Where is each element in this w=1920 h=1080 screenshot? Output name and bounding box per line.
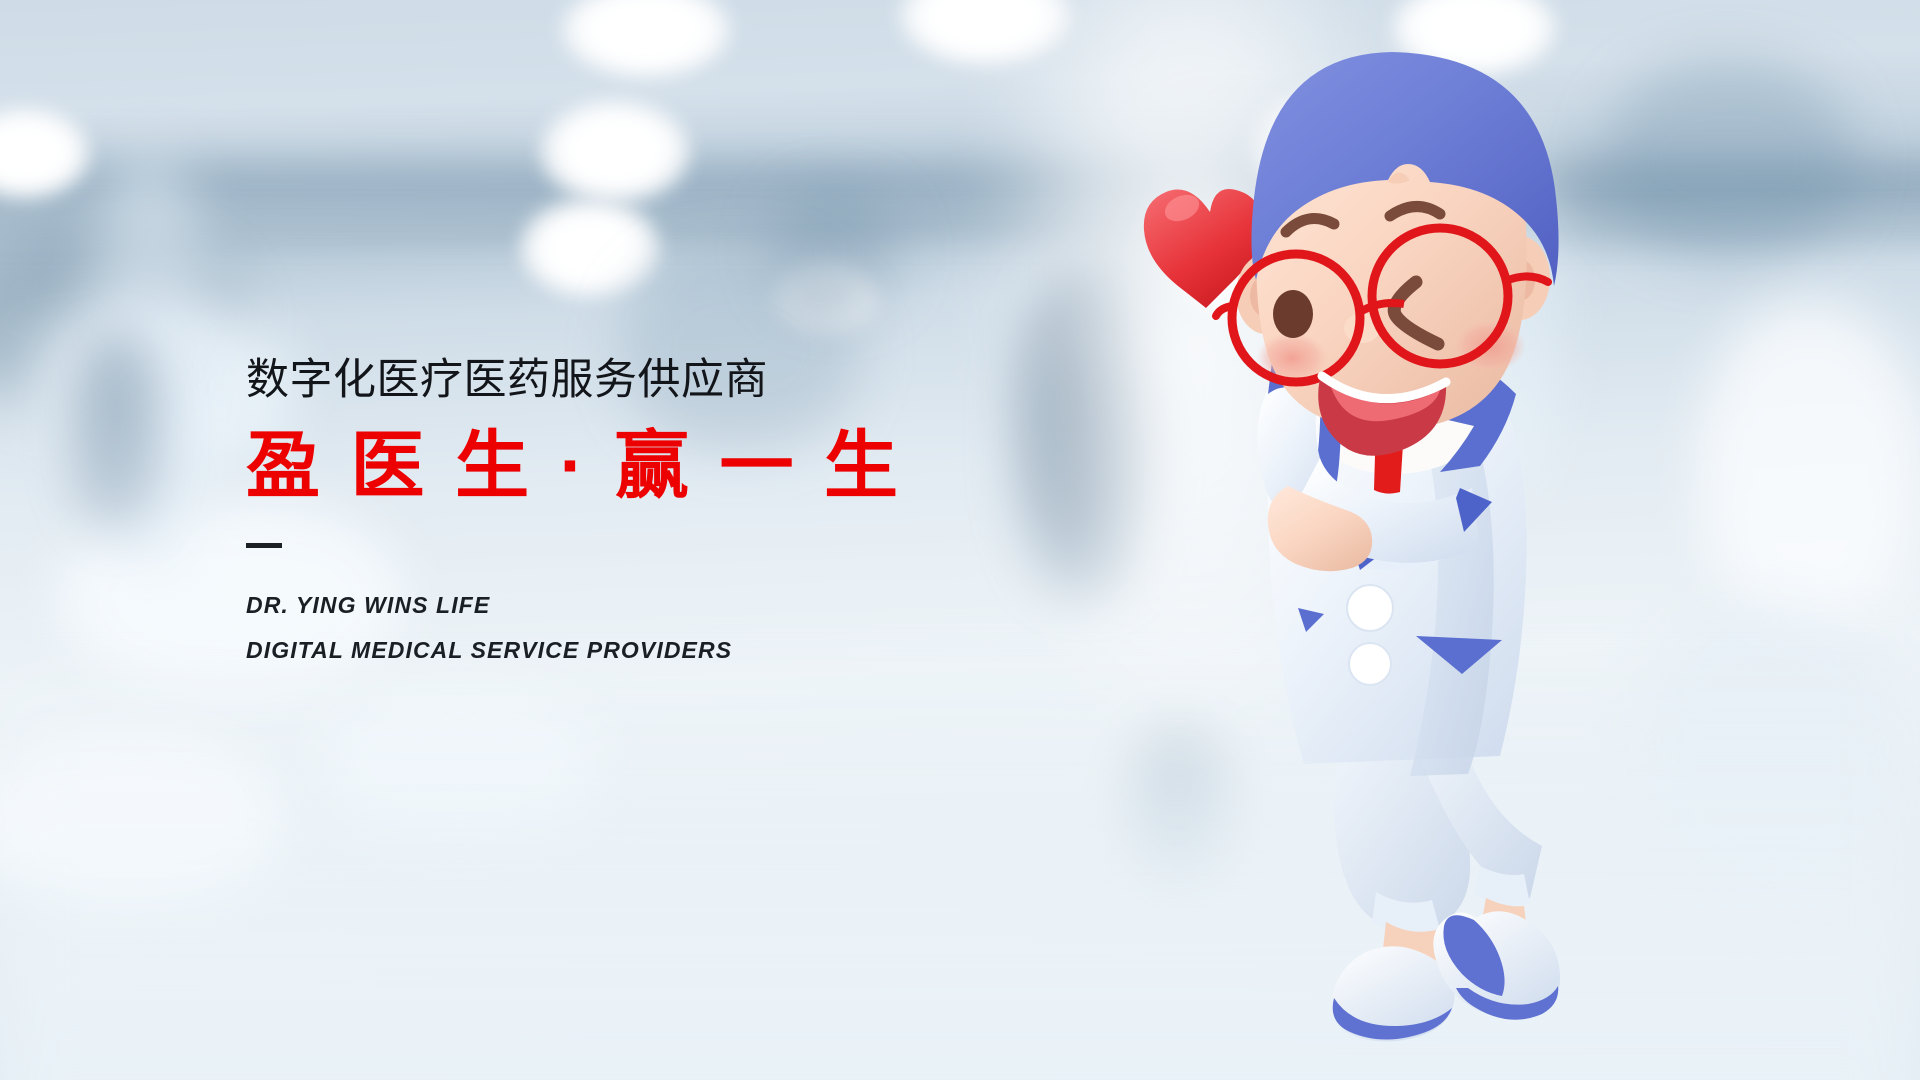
divider-rule — [246, 543, 282, 548]
coat-button-top — [1347, 585, 1393, 631]
doctor-mascot — [1180, 46, 1660, 1056]
coat-button-bottom — [1349, 643, 1391, 685]
mascot-legs — [1331, 730, 1560, 1042]
banner-stage: 数字化医疗医药服务供应商 盈 医 生 · 赢 一 生 DR. YING WINS… — [0, 0, 1920, 1080]
background-blur-shape — [1700, 300, 1920, 630]
english-tagline-primary: DR. YING WINS LIFE — [246, 594, 903, 617]
eye-open-left — [1273, 290, 1313, 338]
background-blur-shape — [770, 190, 900, 310]
background-person-silhouette — [62, 330, 172, 540]
banner-headline: 盈 医 生 · 赢 一 生 — [246, 428, 903, 505]
ceiling-light — [520, 198, 660, 298]
banner-copy: 数字化医疗医药服务供应商 盈 医 生 · 赢 一 生 DR. YING WINS… — [246, 358, 903, 662]
english-tagline-secondary: DIGITAL MEDICAL SERVICE PROVIDERS — [246, 639, 903, 662]
banner-kicker: 数字化医疗医药服务供应商 — [246, 358, 903, 404]
ceiling-light — [540, 100, 690, 204]
